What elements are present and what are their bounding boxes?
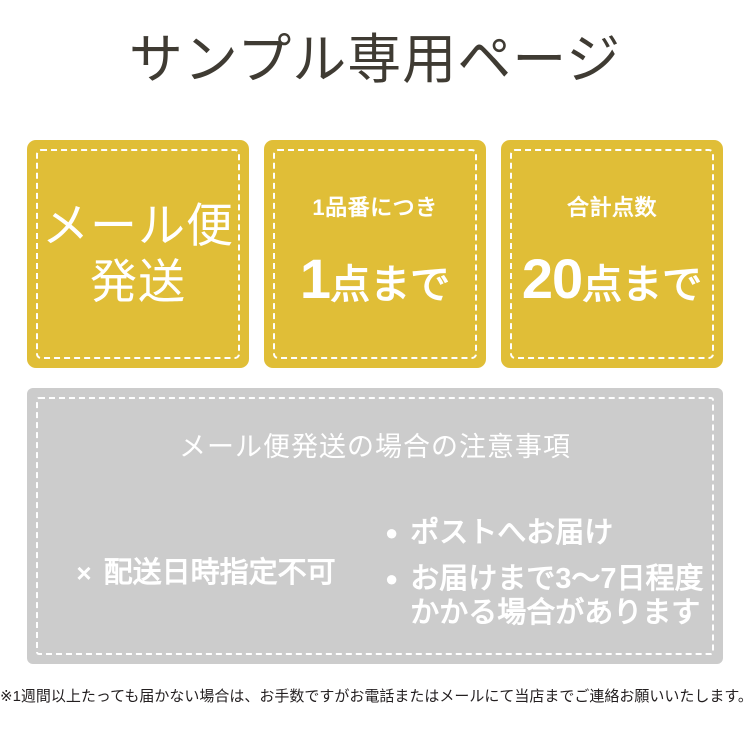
cross-mark-icon: × bbox=[76, 555, 91, 591]
card-per-item-limit-content: 1品番につき 1 点まで bbox=[264, 140, 486, 368]
bullet-dot-icon: ● bbox=[385, 516, 398, 550]
sample-shipping-info-page: サンプル専用ページ メール便 発送 1品番につき 1 点まで 合計点数 bbox=[0, 0, 750, 750]
list-item: ● ポストへお届け bbox=[385, 516, 723, 550]
notice-no-date-designation: × 配送日時指定不可 bbox=[27, 555, 385, 591]
card-per-item-limit-number: 1 bbox=[300, 251, 330, 307]
card-total-limit-value: 20 点まで bbox=[522, 251, 702, 313]
card-per-item-limit: 1品番につき 1 点まで bbox=[264, 140, 486, 368]
card-total-limit: 合計点数 20 点まで bbox=[501, 140, 723, 368]
notice-bullet-list: ● ポストへお届け ● お届けまで3〜7日程度 かかる場合があります bbox=[385, 516, 723, 630]
bullet-dot-icon: ● bbox=[385, 562, 398, 596]
footer-note: ※1週間以上たっても届かない場合は、お手数ですがお電話またはメールにて当店までご… bbox=[0, 687, 750, 707]
card-mail-delivery-content: メール便 発送 bbox=[27, 140, 249, 368]
shipping-cards-row: メール便 発送 1品番につき 1 点まで 合計点数 20 点まで bbox=[27, 140, 723, 368]
list-item: ● お届けまで3〜7日程度 かかる場合があります bbox=[385, 562, 723, 630]
notice-panel: メール便発送の場合の注意事項 × 配送日時指定不可 ● ポストへお届け ● お届… bbox=[27, 388, 723, 664]
notice-no-date-designation-text: 配送日時指定不可 bbox=[104, 555, 336, 591]
card-mail-delivery: メール便 発送 bbox=[27, 140, 249, 368]
card-per-item-limit-caption: 1品番につき bbox=[312, 195, 437, 221]
card-mail-delivery-line1: メール便 bbox=[42, 198, 234, 254]
notice-body: × 配送日時指定不可 ● ポストへお届け ● お届けまで3〜7日程度 かかる場合… bbox=[27, 498, 723, 648]
card-per-item-limit-unit: 点まで bbox=[330, 257, 450, 313]
card-total-limit-unit: 点まで bbox=[582, 257, 702, 313]
page-title: サンプル専用ページ bbox=[0, 28, 750, 92]
card-total-limit-number: 20 bbox=[522, 251, 582, 307]
list-item-text: お届けまで3〜7日程度 かかる場合があります bbox=[410, 562, 703, 630]
card-mail-delivery-line2: 発送 bbox=[90, 254, 186, 310]
card-total-limit-content: 合計点数 20 点まで bbox=[501, 140, 723, 368]
notice-heading: メール便発送の場合の注意事項 bbox=[27, 430, 723, 464]
list-item-text: ポストへお届け bbox=[410, 516, 613, 550]
card-total-limit-caption: 合計点数 bbox=[567, 195, 657, 221]
card-per-item-limit-value: 1 点まで bbox=[300, 251, 450, 313]
